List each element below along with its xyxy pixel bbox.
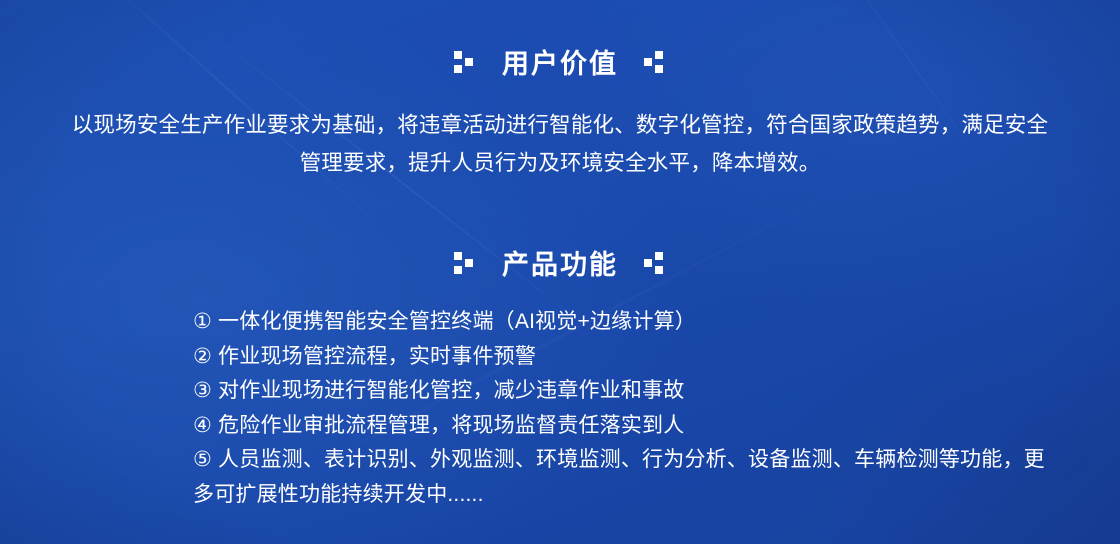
section-title-text: 用户价值 [502,42,618,81]
section-heading-user-value: 用户价值 [0,42,1120,81]
list-item: ④ 危险作业审批流程管理，将现场监督责任落实到人 [193,409,1060,444]
deco-bracket-right-icon [644,252,666,274]
deco-bracket-left-icon [454,252,476,274]
list-item: ① 一体化便携智能安全管控终端（AI视觉+边缘计算） [193,305,1060,340]
section-title-text: 产品功能 [502,243,618,282]
list-item: ③ 对作业现场进行智能化管控，减少违章作业和事故 [193,374,1060,409]
deco-bracket-left-icon [454,51,476,73]
slide-page: 用户价值 以现场安全生产作业要求为基础，将违章活动进行智能化、数字化管控，符合国… [0,0,1120,544]
product-function-list: ① 一体化便携智能安全管控终端（AI视觉+边缘计算） ② 作业现场管控流程，实时… [193,305,1060,512]
section-heading-product-function: 产品功能 [0,243,1120,282]
deco-bracket-right-icon [644,51,666,73]
user-value-paragraph: 以现场安全生产作业要求为基础，将违章活动进行智能化、数字化管控，符合国家政策趋势… [62,106,1058,182]
list-item: ⑤ 人员监测、表计识别、外观监测、环境监测、行为分析、设备监测、车辆检测等功能，… [193,443,1060,512]
list-item: ② 作业现场管控流程，实时事件预警 [193,340,1060,375]
slide-content: 用户价值 以现场安全生产作业要求为基础，将违章活动进行智能化、数字化管控，符合国… [0,0,1120,544]
